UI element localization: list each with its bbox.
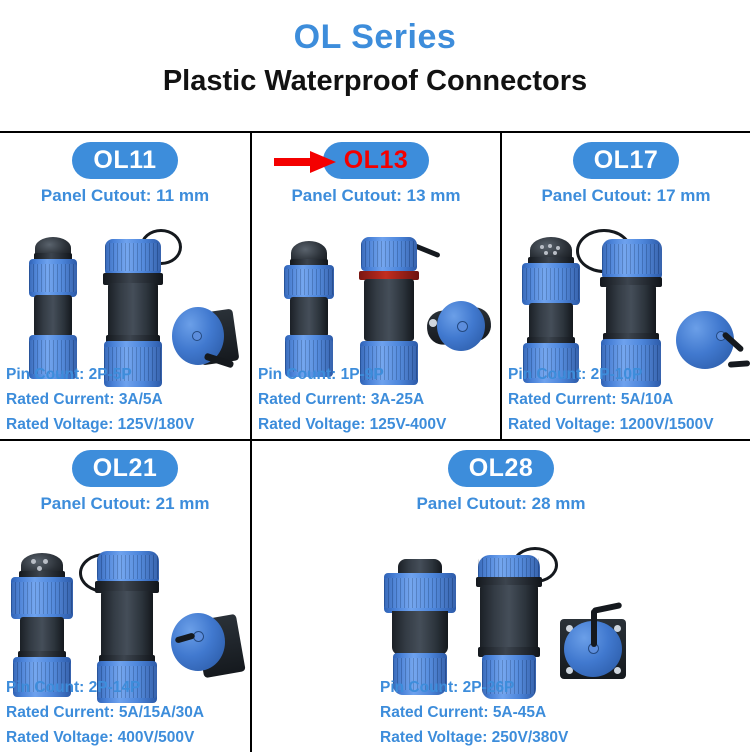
spec-rated-current: Rated Current: 5A/10A xyxy=(508,387,714,412)
spec-rated-voltage: Rated Voltage: 1200V/1500V xyxy=(508,412,714,437)
product-image-ol13 xyxy=(252,207,500,387)
panel-cutout-ol28: Panel Cutout: 28 mm xyxy=(252,493,750,515)
product-cell-ol13[interactable]: OL13 Panel Cutout: 13 mm xyxy=(250,133,500,439)
spec-rated-current: Rated Current: 3A/5A xyxy=(6,387,194,412)
spec-rated-voltage: Rated Voltage: 125V-400V xyxy=(258,412,446,437)
product-image-ol11 xyxy=(0,207,250,387)
badge-row-ol11: OL11 xyxy=(0,141,250,179)
panel-cutout-ol13: Panel Cutout: 13 mm xyxy=(252,185,500,207)
product-specs-ol17: Pin Count: 2P-10P Rated Current: 5A/10A … xyxy=(508,362,714,437)
spec-pin-count: Pin Count: 2P-26P xyxy=(380,675,568,700)
product-badge-ol28[interactable]: OL28 xyxy=(448,450,555,487)
spec-rated-voltage: Rated Voltage: 400V/500V xyxy=(6,725,204,750)
product-specs-ol21: Pin Count: 2P-14P Rated Current: 5A/15A/… xyxy=(6,675,204,750)
product-badge-ol17[interactable]: OL17 xyxy=(573,142,680,179)
spec-rated-voltage: Rated Voltage: 125V/180V xyxy=(6,412,194,437)
product-cell-ol17[interactable]: OL17 Panel Cutout: 17 mm xyxy=(500,133,750,439)
product-cell-ol21[interactable]: OL21 Panel Cutout: 21 mm xyxy=(0,441,250,752)
product-badge-ol13[interactable]: OL13 xyxy=(323,142,430,179)
badge-row-ol21: OL21 xyxy=(0,449,250,487)
badge-row-ol28: OL28 xyxy=(252,449,750,487)
product-badge-ol21[interactable]: OL21 xyxy=(72,450,179,487)
spec-pin-count: Pin Count: 1P-9P xyxy=(258,362,446,387)
product-cell-ol11[interactable]: OL11 Panel Cutout: 11 mm xyxy=(0,133,250,439)
badge-row-ol13: OL13 xyxy=(252,141,500,179)
panel-cutout-ol11: Panel Cutout: 11 mm xyxy=(0,185,250,207)
page-title: OL Series xyxy=(0,16,750,58)
spec-rated-current: Rated Current: 5A/15A/30A xyxy=(6,700,204,725)
product-grid: OL11 Panel Cutout: 11 mm xyxy=(0,131,750,750)
badge-row-ol17: OL17 xyxy=(502,141,750,179)
spec-rated-current: Rated Current: 5A-45A xyxy=(380,700,568,725)
product-specs-ol28: Pin Count: 2P-26P Rated Current: 5A-45A … xyxy=(380,675,568,750)
page-subtitle: Plastic Waterproof Connectors xyxy=(0,60,750,102)
product-specs-ol11: Pin Count: 2P-5P Rated Current: 3A/5A Ra… xyxy=(6,362,194,437)
spec-pin-count: Pin Count: 2P-14P xyxy=(6,675,204,700)
spec-pin-count: Pin Count: 2P-5P xyxy=(6,362,194,387)
product-row-bottom: OL21 Panel Cutout: 21 mm xyxy=(0,441,750,752)
product-row-top: OL11 Panel Cutout: 11 mm xyxy=(0,133,750,441)
spec-rated-voltage: Rated Voltage: 250V/380V xyxy=(380,725,568,750)
product-badge-ol11[interactable]: OL11 xyxy=(72,142,177,179)
spec-rated-current: Rated Current: 3A-25A xyxy=(258,387,446,412)
panel-cutout-ol21: Panel Cutout: 21 mm xyxy=(0,493,250,515)
page-header: OL Series Plastic Waterproof Connectors xyxy=(0,0,750,102)
product-catalog-page: OL Series Plastic Waterproof Connectors … xyxy=(0,0,750,750)
product-cell-ol28[interactable]: OL28 Panel Cutout: 28 mm xyxy=(250,441,750,752)
spec-pin-count: Pin Count: 2P-10P xyxy=(508,362,714,387)
panel-cutout-ol17: Panel Cutout: 17 mm xyxy=(502,185,750,207)
red-arrow-icon xyxy=(274,151,336,173)
product-specs-ol13: Pin Count: 1P-9P Rated Current: 3A-25A R… xyxy=(258,362,446,437)
product-image-ol17 xyxy=(502,207,750,387)
